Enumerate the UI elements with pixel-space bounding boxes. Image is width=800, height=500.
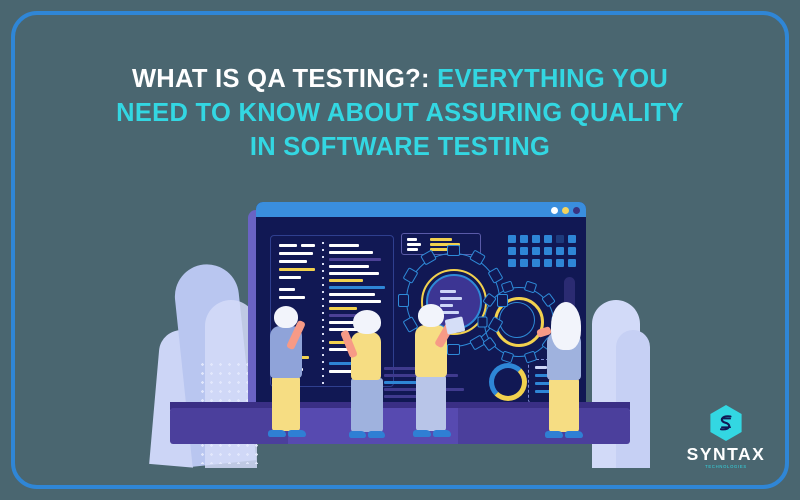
code-gutter-dots: [322, 242, 324, 384]
info-box-panel: [401, 233, 481, 255]
foliage-right-small: [616, 330, 650, 468]
title-part-cyan: EVERYTHING YOU: [430, 65, 668, 93]
title-line-1: WHAT IS QA TESTING?: EVERYTHING YOU: [0, 62, 800, 96]
window-dot-close-icon: [551, 207, 558, 214]
person-2-hair: [353, 310, 381, 334]
person-illustration-2: [343, 310, 395, 442]
title-part-white: WHAT IS QA TESTING?:: [132, 65, 430, 93]
gear-tooth: [477, 317, 487, 328]
gear-tooth: [447, 245, 460, 256]
title-line-2: NEED TO KNOW ABOUT ASSURING QUALITY: [0, 96, 800, 130]
logo-wordmark: SYNTAX: [676, 444, 776, 465]
gear-tooth: [501, 351, 515, 364]
person-illustration-1: [262, 306, 314, 441]
person-1-hair: [274, 306, 298, 328]
window-dot-maximize-icon: [573, 207, 580, 214]
status-grid: [508, 235, 572, 275]
person-4-hair: [551, 302, 581, 350]
window-dot-minimize-icon: [562, 207, 569, 214]
title-line-3: IN SOFTWARE TESTING: [0, 130, 800, 164]
person-illustration-3: [408, 304, 462, 442]
person-3-hair: [418, 304, 444, 327]
browser-titlebar: [256, 202, 586, 217]
poster-canvas: WHAT IS QA TESTING?: EVERYTHING YOU NEED…: [0, 0, 800, 500]
hexagon-logo-icon: [709, 404, 743, 442]
page-title: WHAT IS QA TESTING?: EVERYTHING YOU NEED…: [0, 62, 800, 164]
donut-chart-icon: [489, 363, 527, 401]
gear-tooth: [497, 294, 508, 307]
person-illustration-4: [535, 302, 591, 444]
dial-secondary-inner: [499, 302, 535, 338]
brand-logo[interactable]: SYNTAX TECHNOLOGIES: [676, 404, 776, 470]
